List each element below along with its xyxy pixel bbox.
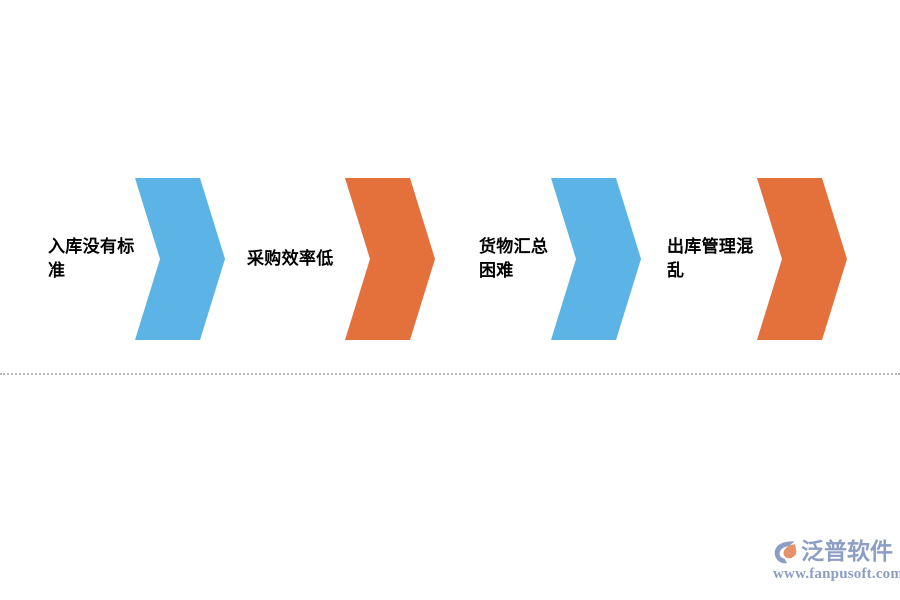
process-step-3-label: 货物汇总困难 bbox=[479, 178, 555, 340]
process-step-2-label: 采购效率低 bbox=[247, 178, 343, 340]
chevron-arrow-icon bbox=[343, 178, 435, 340]
watermark-logo: 泛普软件 www.fanpusoft.com bbox=[772, 537, 892, 585]
fanpu-logo-icon bbox=[772, 538, 800, 566]
chevron-arrow-icon bbox=[755, 178, 847, 340]
logo-url-text: www.fanpusoft.com bbox=[773, 566, 900, 583]
chevron-arrow-icon bbox=[133, 178, 225, 340]
process-step-1-label: 入库没有标准 bbox=[48, 178, 136, 340]
diagram-canvas: 入库没有标准 采购效率低 货物汇总困难 出库管理混乱 泛普软件 www.fa bbox=[0, 0, 900, 600]
logo-brand-text: 泛普软件 bbox=[801, 541, 893, 564]
logo-row: 泛普软件 bbox=[772, 537, 893, 567]
chevron-arrow-icon bbox=[549, 178, 641, 340]
process-step-4-label: 出库管理混乱 bbox=[667, 178, 759, 340]
horizontal-divider bbox=[0, 373, 900, 375]
